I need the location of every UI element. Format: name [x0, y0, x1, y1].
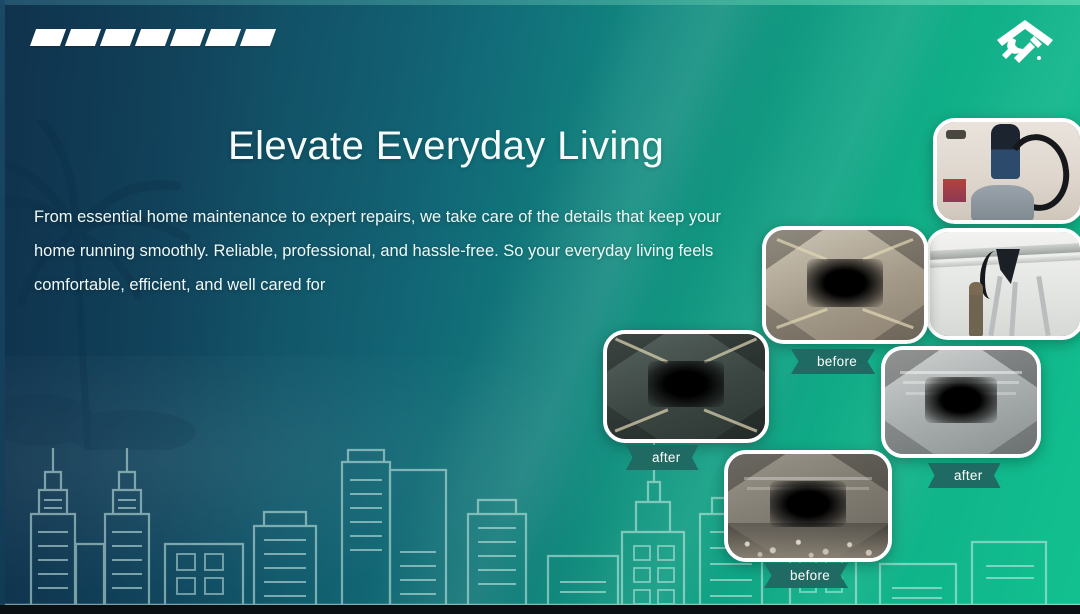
photo-card-worker-ladder[interactable]	[926, 228, 1080, 340]
ribbon-after-left: after	[626, 445, 699, 470]
page-title: Elevate Everyday Living	[228, 124, 664, 169]
dash-mark	[240, 29, 276, 46]
slide-left-edge	[0, 0, 5, 614]
home-repair-logo-icon	[994, 16, 1056, 74]
photo-card-duct-before-bottom[interactable]	[724, 450, 892, 562]
dash-mark	[205, 29, 241, 46]
duct-after-right-image	[885, 350, 1037, 454]
body-paragraph: From essential home maintenance to exper…	[34, 200, 764, 302]
photo-card-duct-after-right[interactable]	[881, 346, 1041, 458]
presentation-slide: Elevate Everyday Living From essential h…	[0, 0, 1080, 614]
ribbon-before-top: before	[791, 349, 875, 374]
dash-mark	[100, 29, 136, 46]
photo-card-duct-before-top[interactable]	[762, 226, 928, 344]
slide-bottom-edge	[0, 605, 1080, 614]
dash-mark	[135, 29, 171, 46]
worker-ladder-image	[930, 232, 1080, 336]
ribbon-after-right: after	[928, 463, 1001, 488]
tech-vacuum-image	[937, 122, 1080, 220]
ribbon-before-bottom: before	[764, 563, 848, 588]
dash-mark	[170, 29, 206, 46]
decorative-dash-row	[33, 29, 273, 46]
duct-before-bottom-image	[728, 454, 888, 558]
dash-mark	[65, 29, 101, 46]
duct-after-left-image	[607, 334, 765, 439]
photo-card-tech-vacuum[interactable]	[933, 118, 1080, 224]
duct-before-top-image	[766, 230, 924, 340]
dash-mark	[30, 29, 66, 46]
slide-top-edge	[0, 0, 1080, 5]
photo-card-duct-after-left[interactable]	[603, 330, 769, 443]
